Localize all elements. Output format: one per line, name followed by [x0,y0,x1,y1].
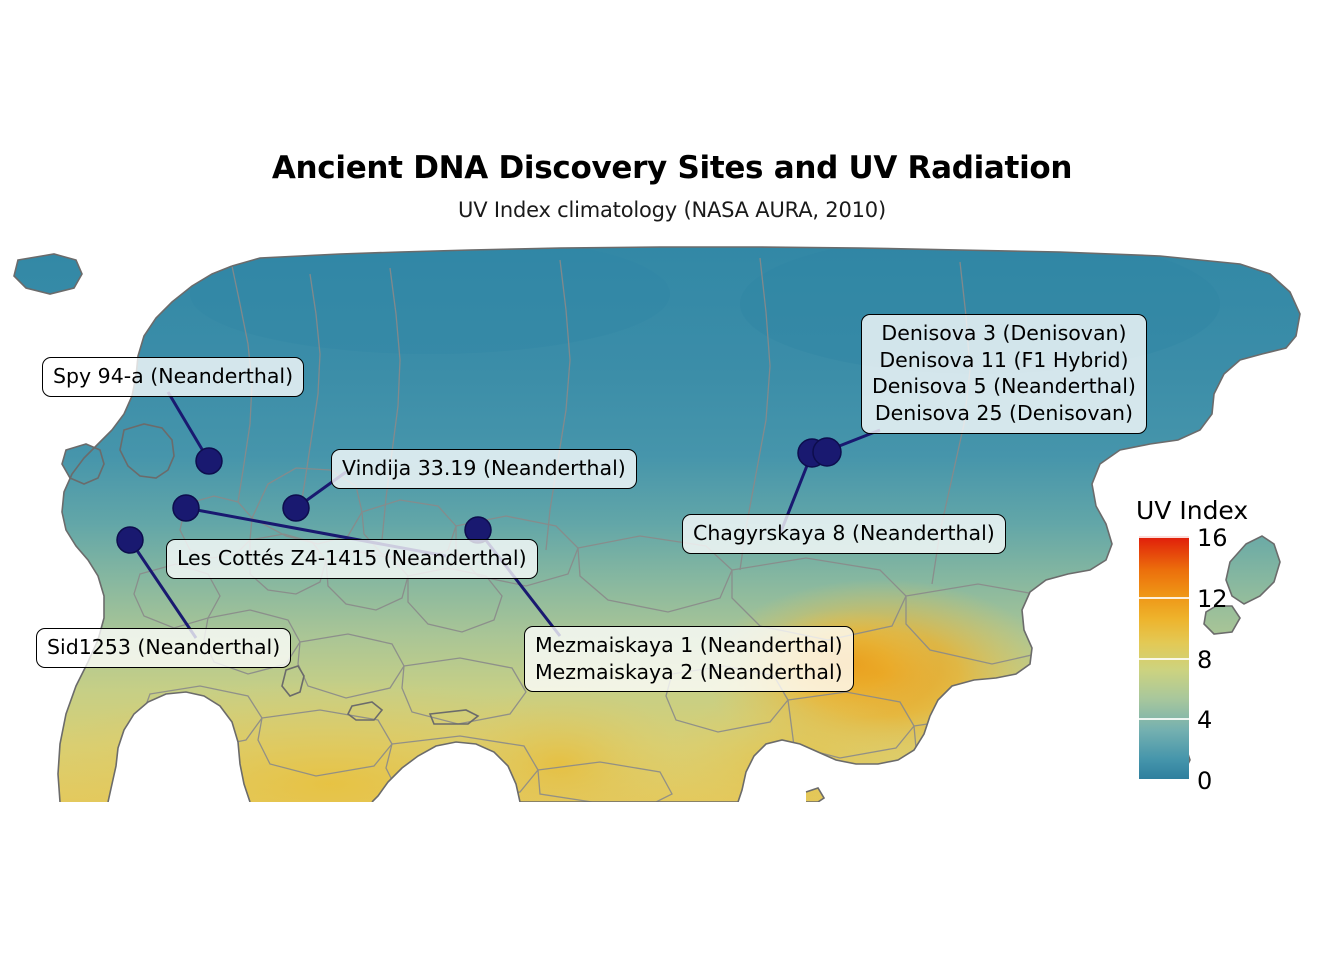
colorbar-title: UV Index [1136,496,1248,525]
page-subtitle: UV Index climatology (NASA AURA, 2010) [0,198,1344,222]
page-title: Ancient DNA Discovery Sites and UV Radia… [0,152,1344,185]
site-label-line: Denisova 11 (F1 Hybrid) [872,347,1136,374]
title-block: Ancient DNA Discovery Sites and UV Radia… [0,152,1344,222]
site-label-sid1253[interactable]: Sid1253 (Neanderthal) [36,628,291,668]
colorbar-tick-label-12: 12 [1197,585,1228,613]
uv-index-colorbar: UV Index 16 12 8 4 0 [1133,496,1333,796]
site-marker-les-cottes[interactable] [173,495,199,521]
colorbar-tick-label-4: 4 [1197,706,1212,734]
site-marker-vindija-33-19[interactable] [283,495,309,521]
site-label-line: Spy 94-a (Neanderthal) [53,363,293,390]
site-label-spy-94-a[interactable]: Spy 94-a (Neanderthal) [42,357,304,397]
colorbar-tick-label-0: 0 [1197,767,1212,795]
site-label-line: Mezmaiskaya 2 (Neanderthal) [535,659,843,686]
site-label-vindija-33-19[interactable]: Vindija 33.19 (Neanderthal) [331,449,637,489]
site-label-mezmaiskaya[interactable]: Mezmaiskaya 1 (Neanderthal) Mezmaiskaya … [524,626,854,692]
site-label-line: Denisova 25 (Denisovan) [872,400,1136,427]
colorbar-tick-12 [1139,597,1189,599]
colorbar-tick-4 [1139,718,1189,720]
colorbar-tick-label-8: 8 [1197,646,1212,674]
site-label-line: Vindija 33.19 (Neanderthal) [342,455,626,482]
colorbar-tick-label-16: 16 [1197,524,1228,552]
site-marker-denisova[interactable] [813,438,841,466]
site-label-line: Denisova 3 (Denisovan) [872,320,1136,347]
site-label-denisova[interactable]: Denisova 3 (Denisovan) Denisova 11 (F1 H… [861,314,1147,434]
site-label-les-cottes[interactable]: Les Cottés Z4-1415 (Neanderthal) [166,539,538,579]
site-label-line: Sid1253 (Neanderthal) [47,634,280,661]
site-label-line: Mezmaiskaya 1 (Neanderthal) [535,632,843,659]
site-label-chagyrskaya-8[interactable]: Chagyrskaya 8 (Neanderthal) [682,514,1006,554]
site-label-line: Denisova 5 (Neanderthal) [872,373,1136,400]
site-marker-spy-94-a[interactable] [196,448,222,474]
site-marker-sid1253[interactable] [117,527,143,553]
colorbar-tick-16 [1139,536,1189,538]
site-label-line: Chagyrskaya 8 (Neanderthal) [693,520,995,547]
colorbar-tick-8 [1139,658,1189,660]
site-label-line: Les Cottés Z4-1415 (Neanderthal) [177,545,527,572]
